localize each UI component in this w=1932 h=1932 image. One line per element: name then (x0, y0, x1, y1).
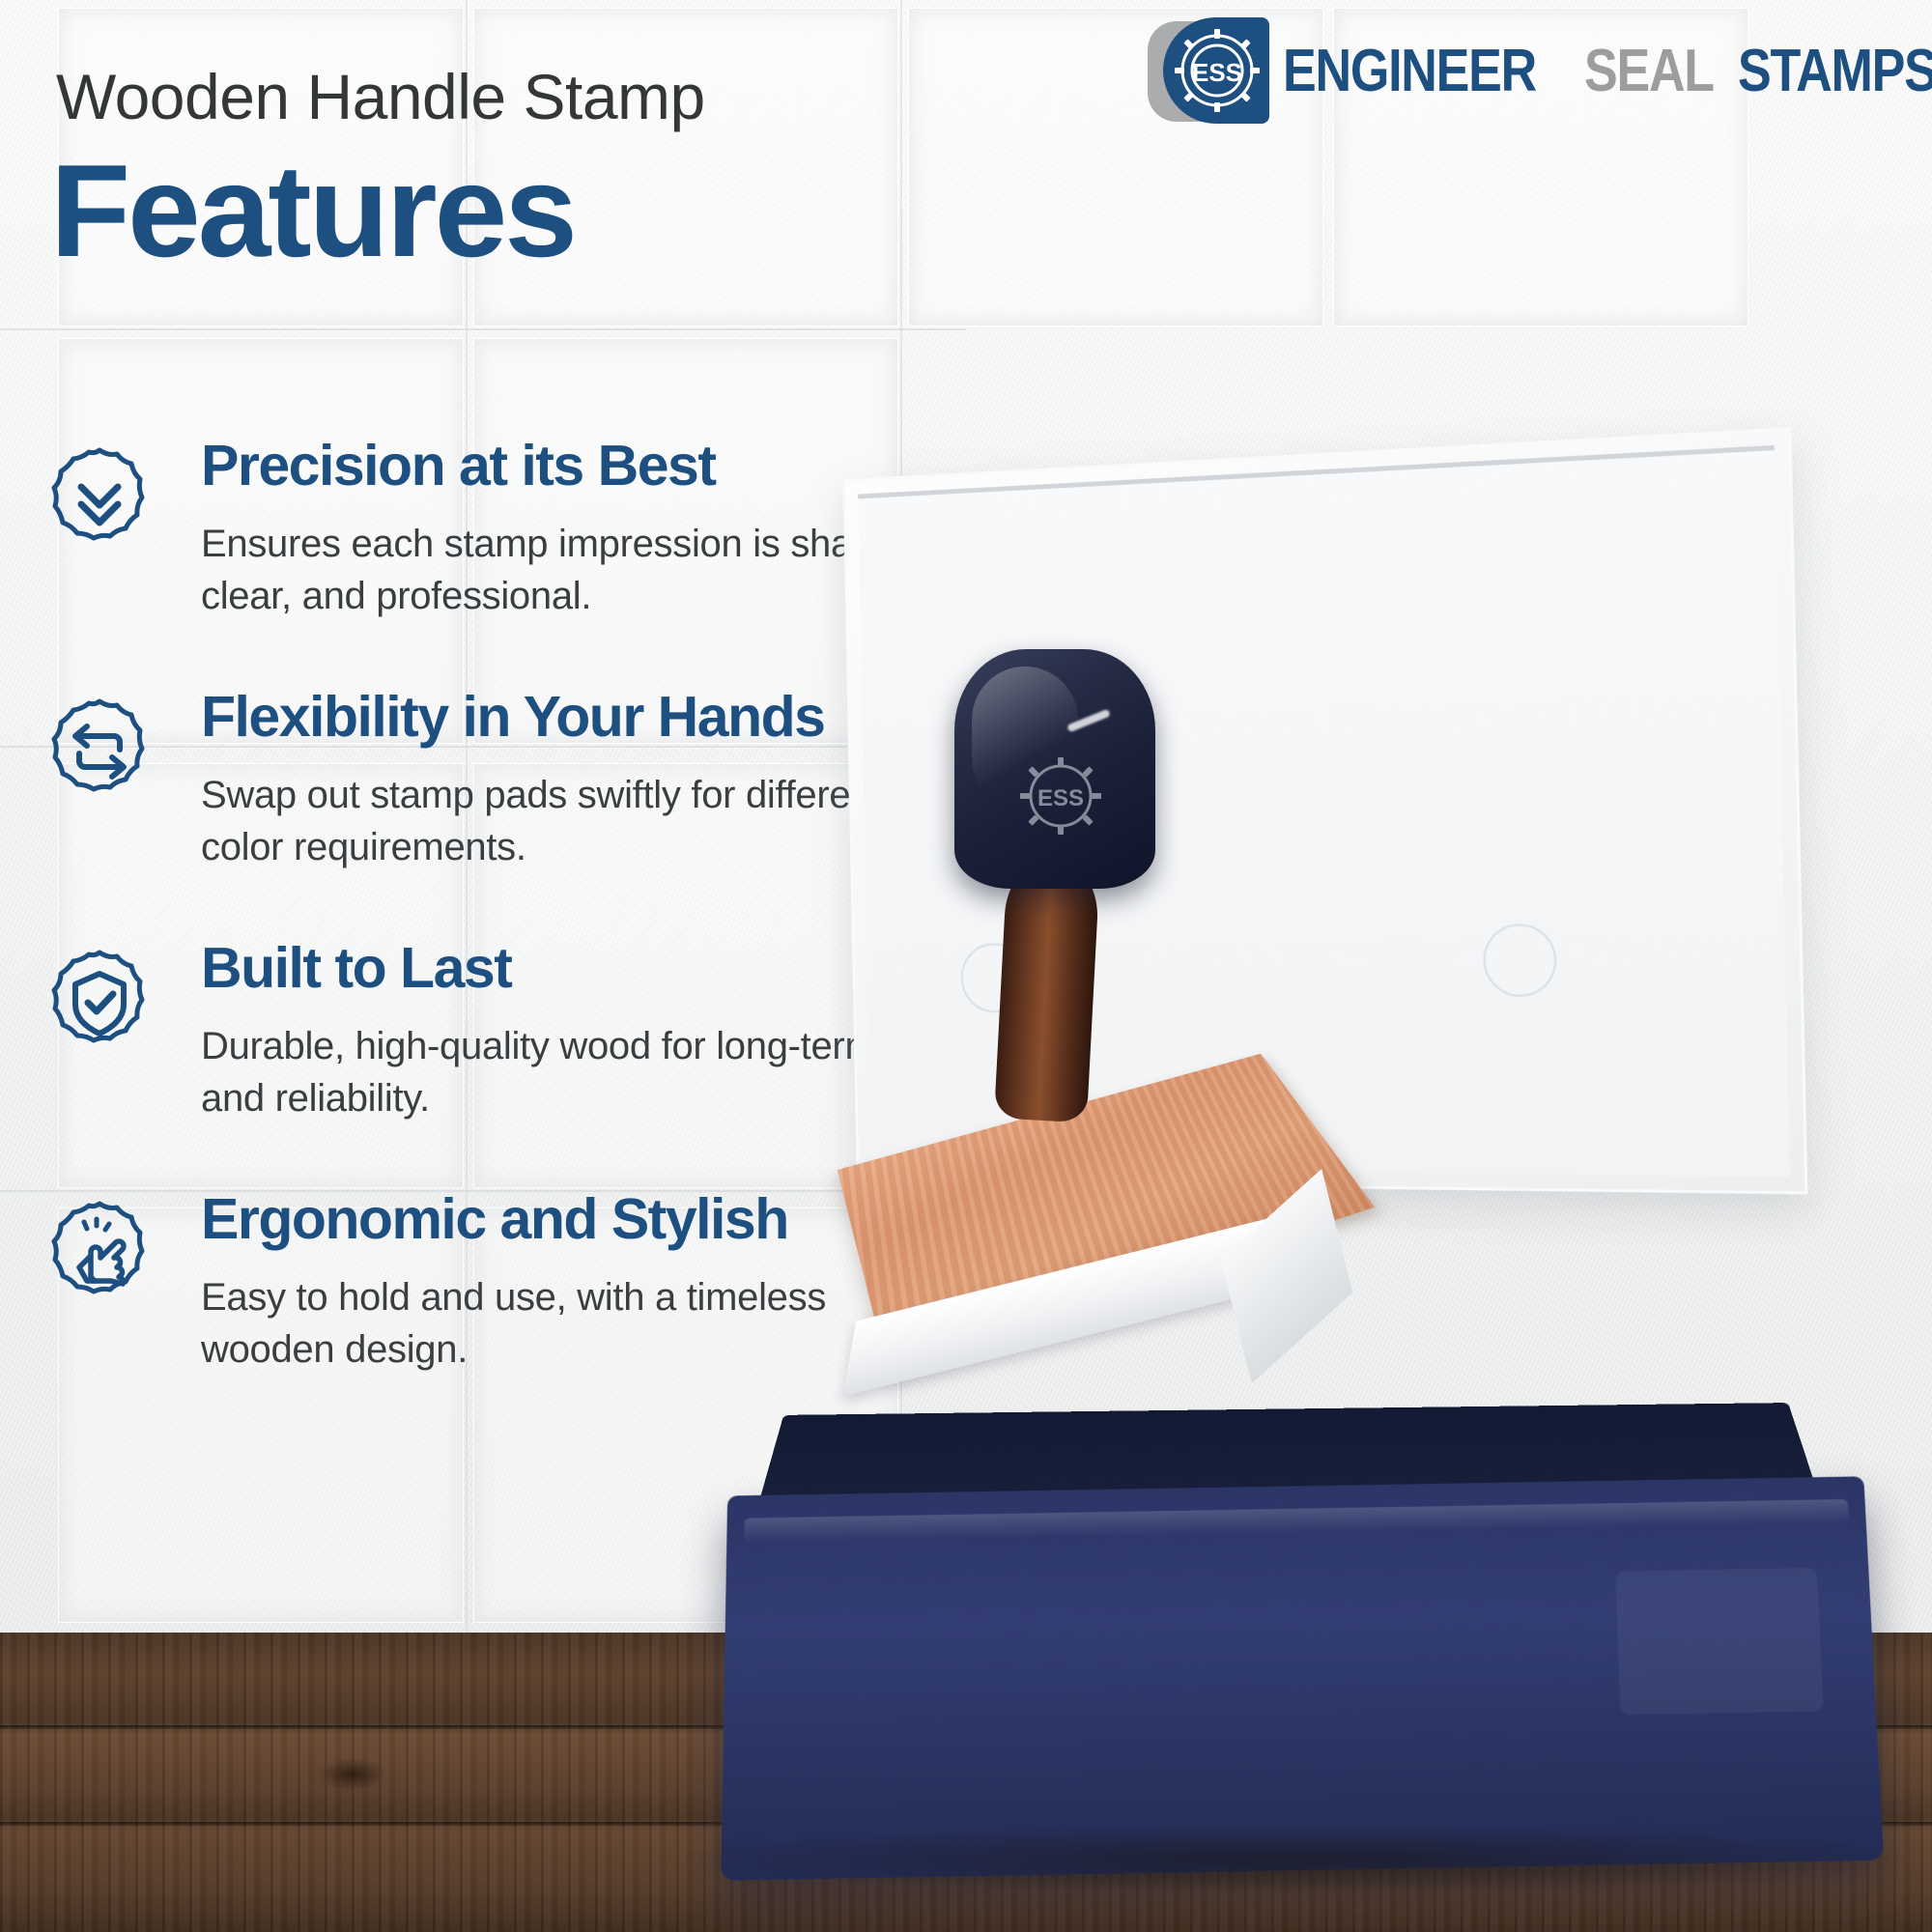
brand-word-seal: SEAL (1584, 37, 1714, 105)
shield-check-badge-icon (41, 945, 158, 1063)
product-shadow (686, 1826, 1903, 1893)
lid-dimple (1483, 923, 1557, 997)
brand-wordmark: ENGINEER SEAL STAMPS .COM (1283, 0, 1932, 146)
page-title: Features (50, 145, 575, 276)
brand-word-stamps: STAMPS (1738, 37, 1932, 105)
page-subtitle: Wooden Handle Stamp (56, 60, 705, 133)
brand-word-engineer: ENGINEER (1283, 37, 1536, 105)
feature-item: Precision at its Best Ensures each stamp… (0, 437, 985, 676)
product-photo: ESS (908, 502, 1932, 1932)
feature-item: Flexibility in Your Hands Swap out stamp… (0, 688, 985, 927)
stamp-handle-neck (994, 858, 1100, 1123)
swap-arrows-badge-icon (41, 694, 158, 811)
feature-item: Built to Last Durable, high-quality wood… (0, 939, 985, 1179)
handle-ess-logo-icon: ESS (1014, 750, 1107, 842)
feature-item: Ergonomic and Stylish Easy to hold and u… (0, 1190, 985, 1430)
chevron-double-down-badge-icon (41, 442, 158, 560)
brand-logo[interactable]: ESS ENGINEER SEAL STAMPS .COM (1148, 17, 1932, 124)
background-shelf-line (0, 328, 966, 330)
header: Wooden Handle Stamp Features (0, 0, 1932, 328)
handle-monogram: ESS (1037, 785, 1084, 811)
svg-text:ESS: ESS (1192, 58, 1242, 87)
ess-badge-icon: ESS (1148, 17, 1275, 124)
presentation-box-base (721, 1476, 1884, 1880)
features-list: Precision at its Best Ensures each stamp… (0, 425, 985, 1430)
wood-knot (319, 1758, 386, 1791)
pointing-hand-badge-icon (41, 1196, 158, 1314)
feature-description: Durable, high-quality wood for long-term… (201, 1020, 964, 1124)
stamp-handle-knob: ESS (954, 649, 1155, 889)
